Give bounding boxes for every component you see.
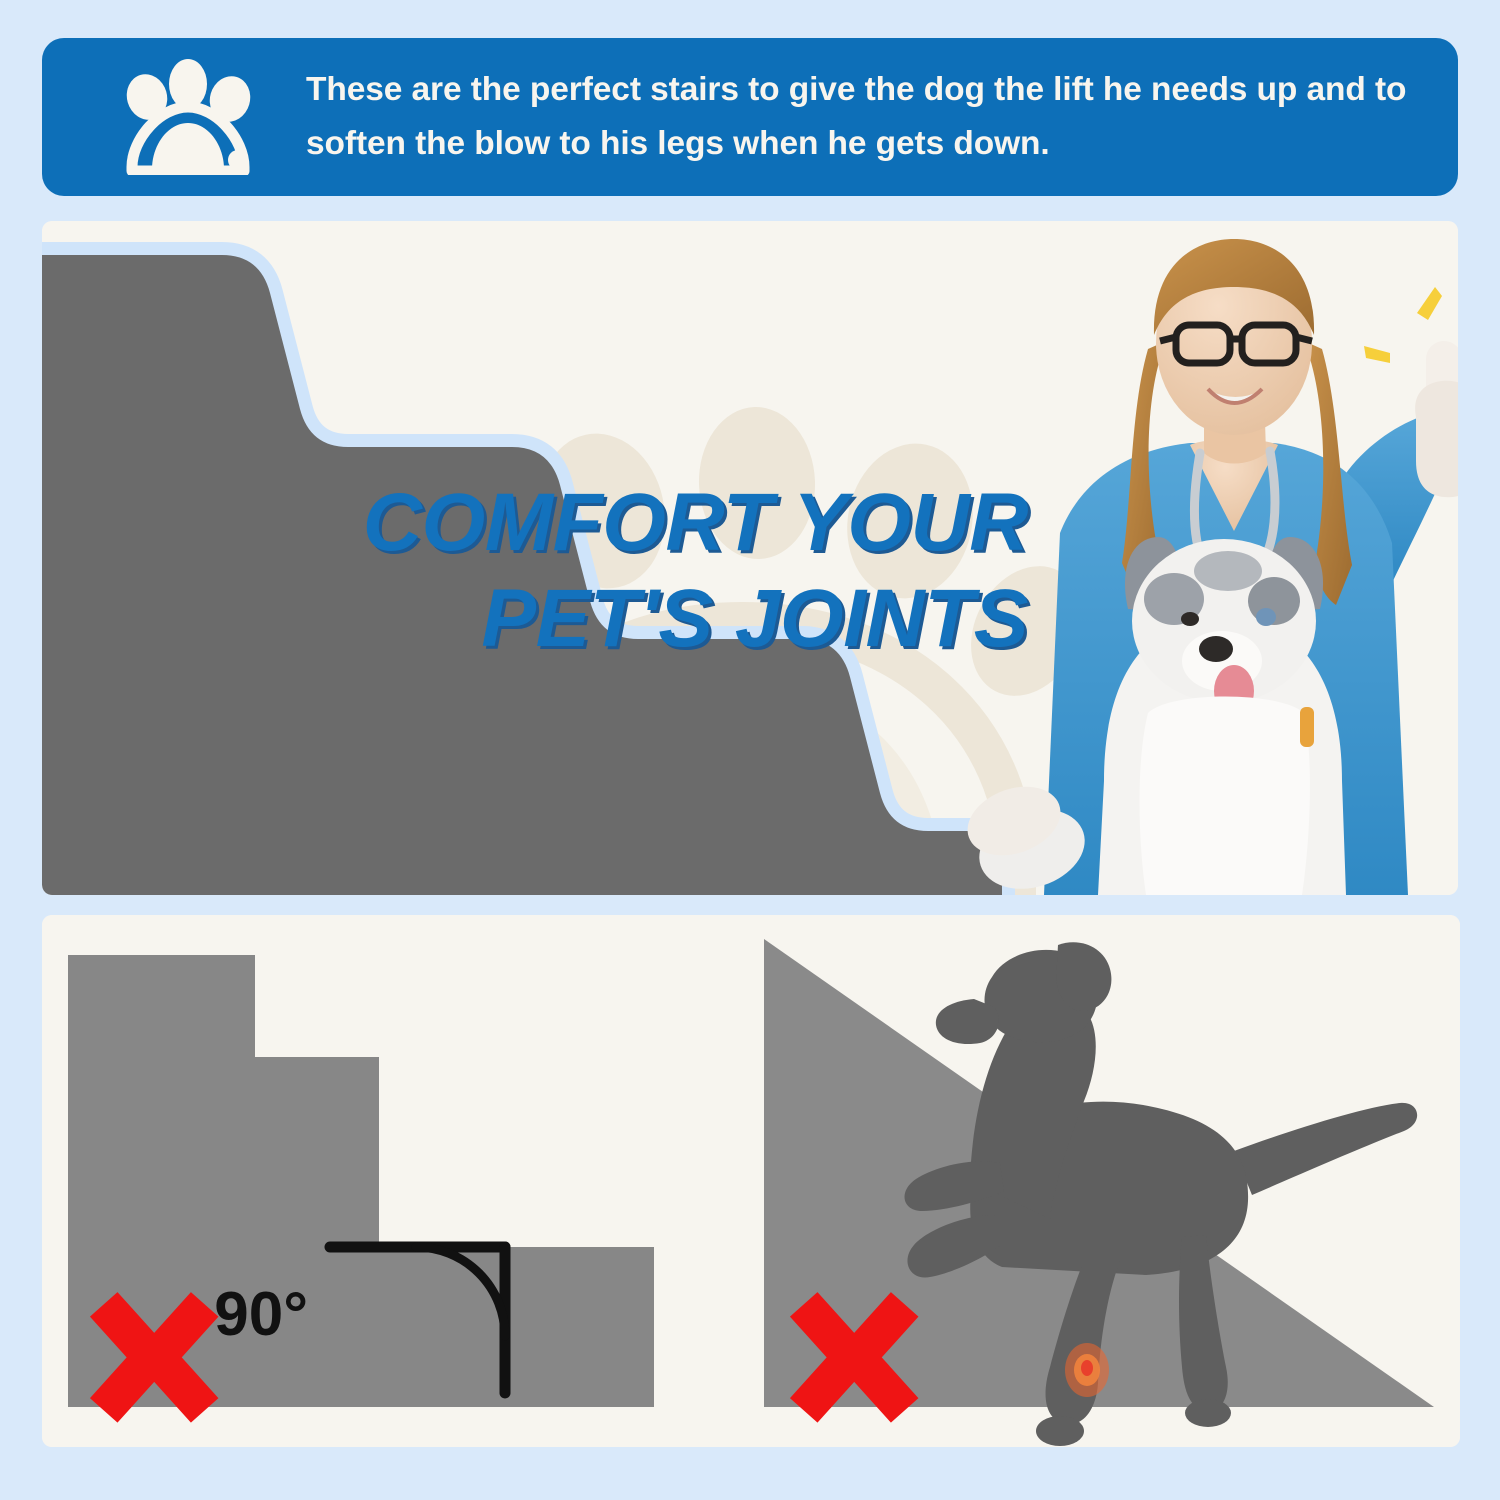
hero-title: COMFORT YOUR PET'S JOINTS — [288, 475, 1028, 667]
headline-banner: These are the perfect stairs to give the… — [42, 38, 1458, 196]
comparison-graphics: 90° — [42, 915, 1460, 1447]
banner-headline-text: These are the perfect stairs to give the… — [306, 63, 1418, 172]
joint-pain-glow — [1065, 1343, 1109, 1397]
paw-print-icon — [120, 59, 258, 175]
hero-panel: COMFORT YOUR PET'S JOINTS — [42, 221, 1458, 895]
infographic-root: { "page": { "background_color": "#d9e9fa… — [0, 0, 1500, 1500]
comparison-panel: 90° — [42, 915, 1460, 1447]
angle-label: 90° — [214, 1280, 308, 1349]
